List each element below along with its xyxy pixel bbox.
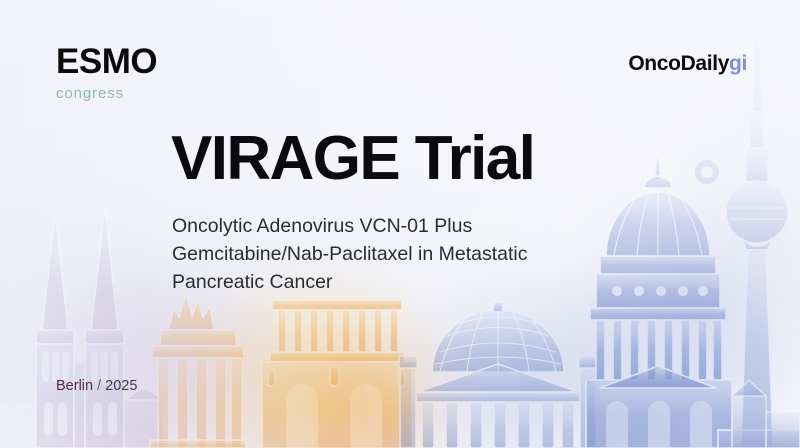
esmo-logo-wordmark: ESMO — [56, 44, 157, 79]
brand-suffix: gi — [729, 52, 747, 75]
location-year-footer: Berlin / 2025 — [56, 379, 137, 394]
card-content: ESMO congress OncoDailygi VIRAGE Trial O… — [0, 0, 800, 448]
oncodaily-gi-logo: OncoDailygi — [628, 53, 747, 74]
page-subtitle-line-3: Pancreatic Cancer — [172, 268, 602, 296]
esmo-congress-logo: ESMO congress — [56, 44, 157, 101]
page-subtitle-line-2: Gemcitabine/Nab-Paclitaxel in Metastatic — [172, 240, 602, 268]
esmo-logo-subtitle: congress — [56, 86, 157, 101]
promo-card: ESMO congress OncoDailygi VIRAGE Trial O… — [0, 0, 800, 448]
footer-year: 2025 — [105, 378, 137, 394]
page-subtitle-line-1: Oncolytic Adenovirus VCN-01 Plus — [172, 212, 602, 240]
page-subtitle: Oncolytic Adenovirus VCN-01 Plus Gemcita… — [172, 212, 602, 296]
brand-name: OncoDaily — [628, 52, 729, 75]
footer-city: Berlin — [56, 378, 93, 394]
page-title: VIRAGE Trial — [171, 128, 534, 190]
